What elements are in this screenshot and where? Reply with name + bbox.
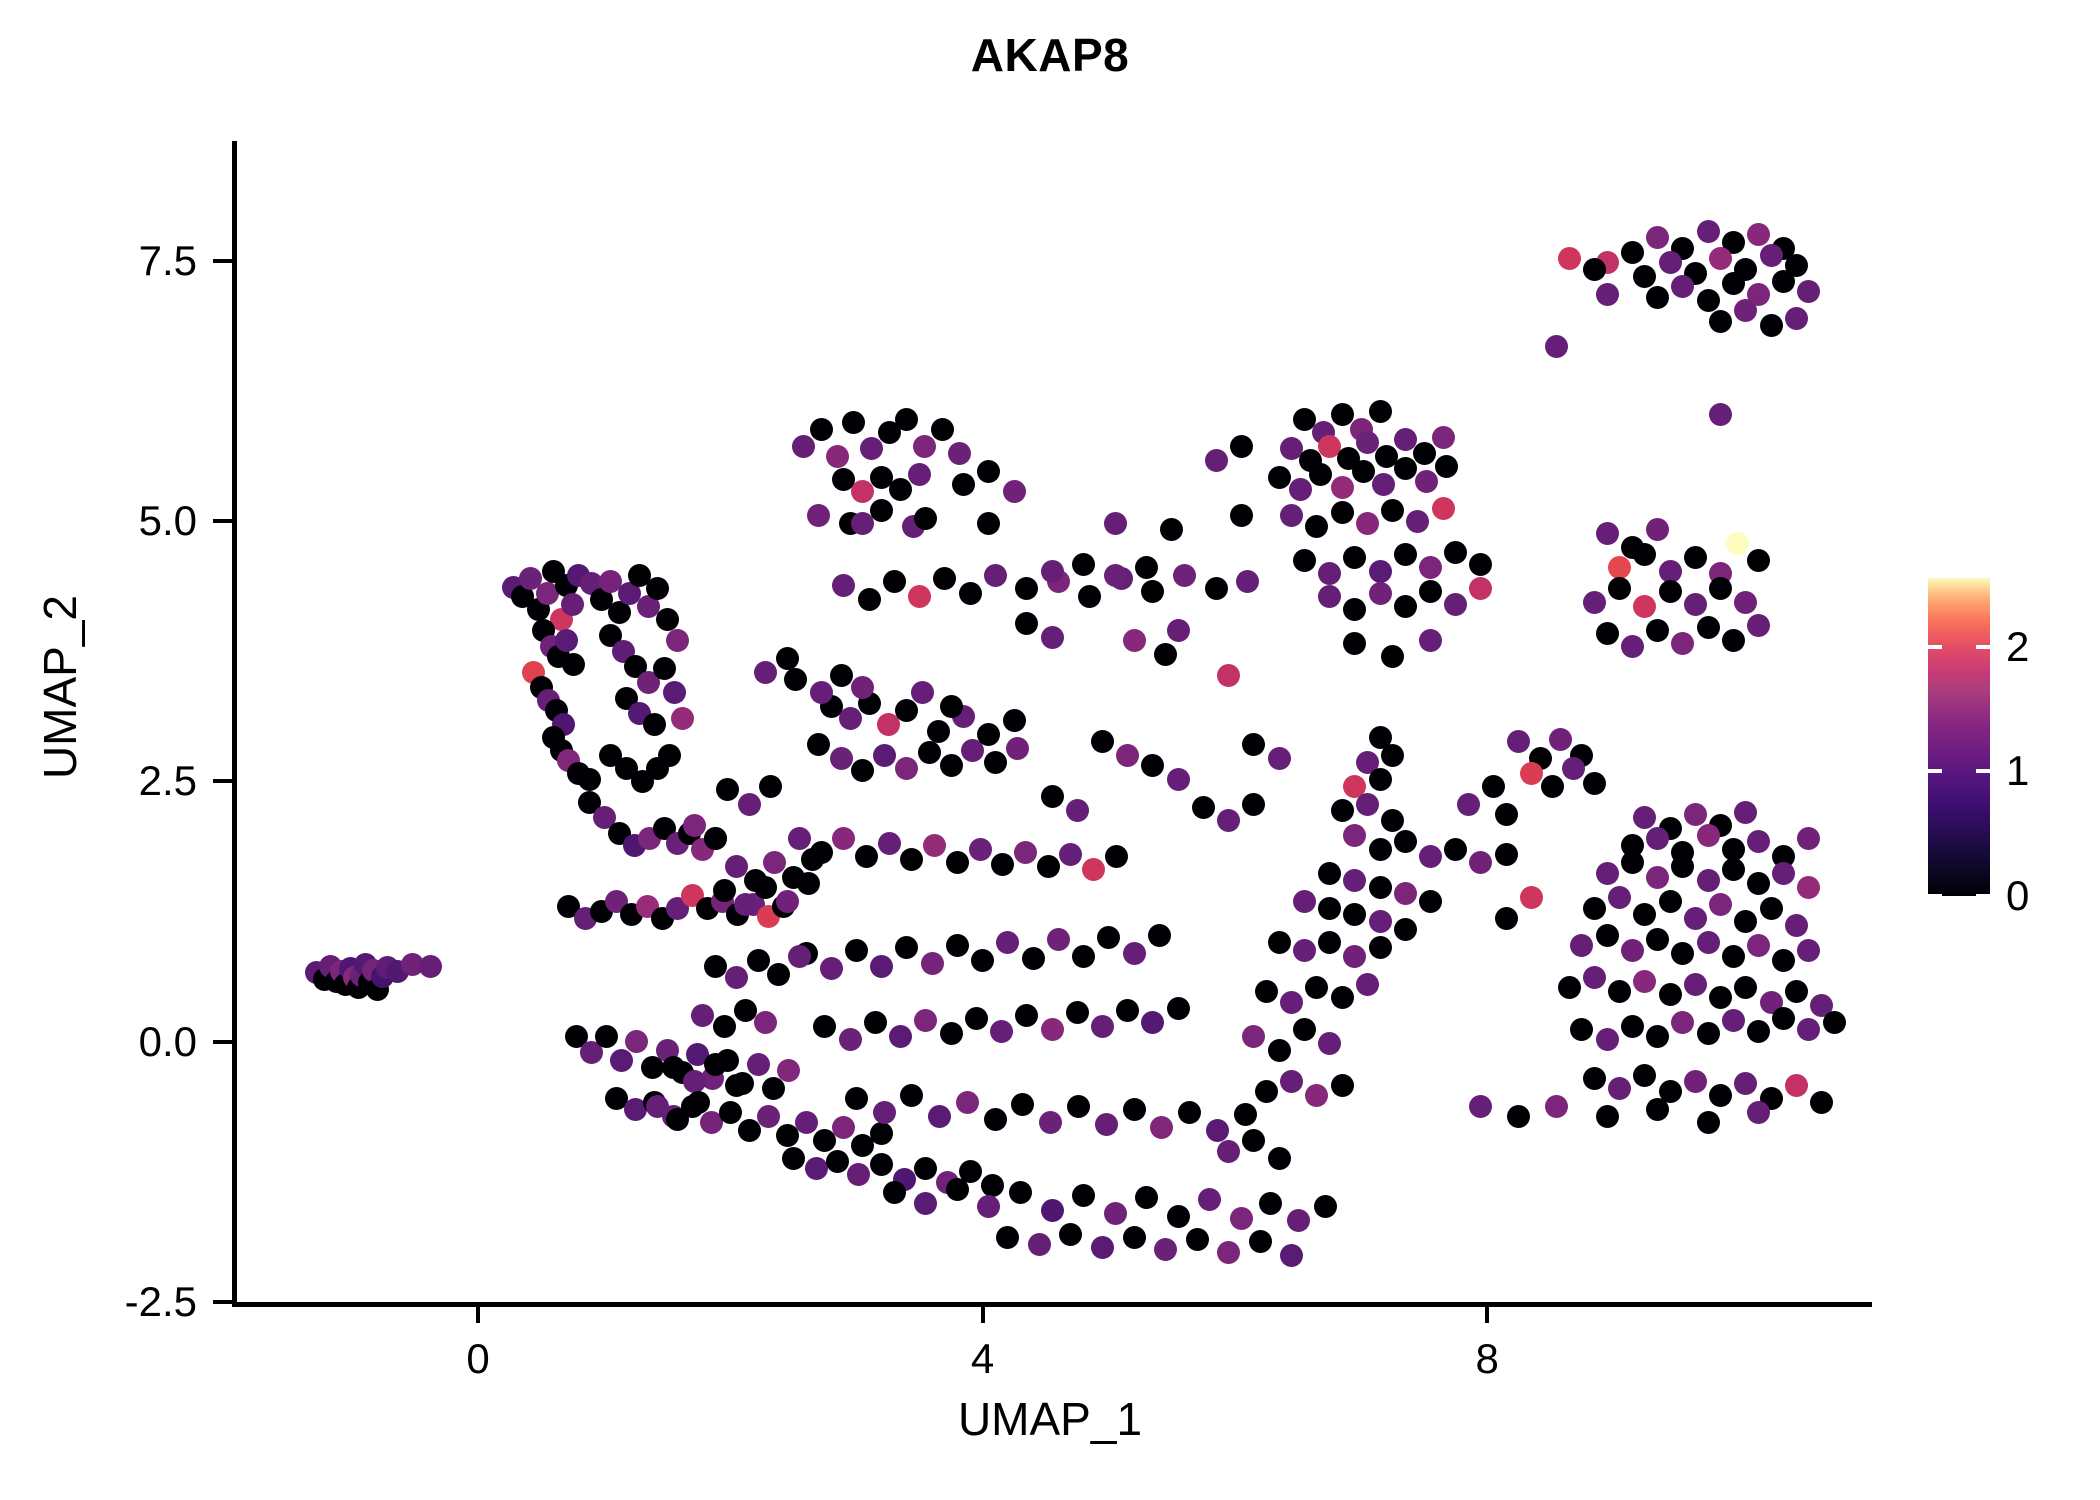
scatter-point [1318,585,1341,608]
scatter-point [1772,949,1795,972]
scatter-point [762,1077,785,1100]
scatter-point [914,1192,937,1215]
scatter-point [1217,1241,1240,1264]
scatter-point [1747,872,1770,895]
scatter-point [1369,582,1392,605]
scatter-point [555,629,578,652]
scatter-point [776,890,799,913]
scatter-point [1003,480,1026,503]
scatter-point [826,1150,849,1173]
scatter-point [1015,612,1038,635]
scatter-point [1646,286,1669,309]
scatter-point [1352,460,1375,483]
scatter-point [1369,768,1392,791]
scatter-point [1596,522,1619,545]
scatter-point [1006,737,1029,760]
scatter-point [1003,709,1026,732]
scatter-point [918,741,941,764]
scatter-point [1104,512,1127,535]
scatter-point [1318,862,1341,885]
scatter-point [940,754,963,777]
scatter-point [921,952,944,975]
scatter-point [754,661,777,684]
y-tick-mark [213,1040,233,1044]
scatter-point [1394,918,1417,941]
scatter-point [1066,1001,1089,1024]
scatter-point [1785,307,1808,330]
scatter-point [1583,966,1606,989]
scatter-point [1562,757,1585,780]
scatter-point [1287,1209,1310,1232]
scatter-point [810,681,833,704]
scatter-point [1558,976,1581,999]
scatter-point [883,1181,906,1204]
scatter-point [792,435,815,458]
scatter-point [788,945,811,968]
scatter-point [1596,862,1619,885]
scatter-point [767,963,790,986]
scatter-point [1037,855,1060,878]
scatter-point [1697,1022,1720,1045]
scatter-point [795,1111,818,1134]
scatter-point [1167,619,1190,642]
scatter-point [946,1178,969,1201]
scatter-point [1747,1101,1770,1124]
scatter-point [1457,793,1480,816]
scatter-point [1726,532,1749,555]
scatter-point [1318,562,1341,585]
scatter-point [1734,591,1757,614]
scatter-point [1697,1111,1720,1134]
scatter-point [1369,876,1392,899]
scatter-point [1356,512,1379,535]
scatter-point [1419,845,1442,868]
scatter-point [1646,866,1669,889]
scatter-point [842,411,865,434]
scatter-point [839,1028,862,1051]
scatter-point [1255,1080,1278,1103]
scatter-point [704,827,727,850]
scatter-point [561,593,584,616]
scatter-point [1280,1070,1303,1093]
scatter-point [940,695,963,718]
scatter-point [1343,945,1366,968]
scatter-point [1747,549,1770,572]
scatter-point [1797,1018,1820,1041]
scatter-point [1432,426,1455,449]
scatter-point [1394,830,1417,853]
scatter-point [1709,893,1732,916]
scatter-point [1014,841,1037,864]
scatter-point [1646,1098,1669,1121]
scatter-point [1173,564,1196,587]
scatter-point [1596,1028,1619,1051]
scatter-point [927,720,950,743]
scatter-point [1583,897,1606,920]
scatter-point [725,1074,748,1097]
scatter-point [713,879,736,902]
scatter-point [1596,283,1619,306]
scatter-point [1280,991,1303,1014]
scatter-point [1154,643,1177,666]
scatter-point [1293,890,1316,913]
scatter-point [1041,1199,1064,1222]
scatter-point [1722,838,1745,861]
scatter-point [813,1015,836,1038]
scatter-point [855,845,878,868]
scatter-point [1293,939,1316,962]
scatter-point [1697,220,1720,243]
scatter-point [1192,796,1215,819]
scatter-point [1722,272,1745,295]
scatter-point [776,647,799,670]
scatter-point [931,418,954,441]
colorbar-legend: 210 [1928,578,1990,896]
scatter-point [757,1105,780,1128]
scatter-point [860,437,883,460]
colorbar-tick-mark [1976,645,1990,649]
scatter-point [1217,1140,1240,1163]
scatter-point [1684,593,1707,616]
scatter-point [1381,645,1404,668]
scatter-point [658,744,681,767]
scatter-point [666,1108,689,1131]
scatter-point [1549,728,1572,751]
x-axis-title: UMAP_1 [0,1392,2100,1446]
scatter-point [1583,591,1606,614]
scatter-point [646,1095,669,1118]
scatter-point [933,567,956,590]
scatter-point [1242,793,1265,816]
scatter-point [873,1101,896,1124]
scatter-point [595,1025,618,1048]
scatter-point [940,1022,963,1045]
scatter-point [1255,980,1278,1003]
page-title: AKAP8 [0,28,2100,82]
scatter-point [889,1025,912,1048]
scatter-point [1356,973,1379,996]
scatter-point [858,588,881,611]
scatter-point [1621,939,1644,962]
scatter-point [1722,629,1745,652]
scatter-point [1206,1119,1229,1142]
scatter-point [1722,1009,1745,1032]
scatter-point [1268,1147,1291,1170]
scatter-point [1646,619,1669,642]
scatter-point [1785,1074,1808,1097]
scatter-point [1123,1098,1146,1121]
scatter-point [946,851,969,874]
scatter-point [719,1101,742,1124]
scatter-point [1022,947,1045,970]
scatter-point [1684,803,1707,826]
scatter-point [1150,1116,1173,1139]
scatter-point [1331,501,1354,524]
scatter-point [1697,289,1720,312]
scatter-point [1104,1202,1127,1225]
scatter-point [1268,747,1291,770]
scatter-point [1041,785,1064,808]
colorbar-tick-mark [1928,645,1942,649]
scatter-point [1621,1015,1644,1038]
colorbar-tick-mark [1976,769,1990,773]
scatter-point [801,848,824,871]
scatter-point [810,418,833,441]
scatter-point [1583,772,1606,795]
scatter-point [734,893,757,916]
scatter-point [826,445,849,468]
scatter-point [1167,768,1190,791]
scatter-point [1343,869,1366,892]
scatter-point [1167,997,1190,1020]
scatter-point [895,408,918,431]
scatter-point [913,435,936,458]
scatter-point [984,1108,1007,1131]
scatter-point [845,939,868,962]
x-tick-mark [1485,1303,1489,1323]
scatter-point [1671,942,1694,965]
scatter-point [1697,616,1720,639]
scatter-point [1545,1095,1568,1118]
scatter-point [1356,793,1379,816]
scatter-point [1369,936,1392,959]
scatter-point [578,768,601,791]
scatter-point [908,585,931,608]
scatter-point [1028,1233,1051,1256]
x-tick-label: 8 [1407,1338,1567,1380]
y-tick-mark [213,779,233,783]
scatter-point [1091,1015,1114,1038]
scatter-point [713,1015,736,1038]
y-axis-line [232,141,237,1307]
scatter-point [1047,928,1070,951]
scatter-point [805,1157,828,1180]
scatter-point [908,463,931,486]
y-axis-title: UMAP_2 [33,407,87,967]
scatter-point [1280,1244,1303,1267]
scatter-point [1495,907,1518,930]
scatter-point [969,838,992,861]
scatter-point [1331,986,1354,1009]
scatter-point [1167,1205,1190,1228]
scatter-point [1432,497,1455,520]
scatter-point [1105,845,1128,868]
scatter-point [1646,1025,1669,1048]
scatter-point [1785,914,1808,937]
scatter-point [1230,1207,1253,1230]
scatter-point [1268,1039,1291,1062]
scatter-point [1633,1064,1656,1087]
scatter-point [419,955,442,978]
scatter-point [1234,1103,1257,1126]
scatter-point [1722,858,1745,881]
scatter-point [1394,543,1417,566]
scatter-point [1697,869,1720,892]
scatter-point [1621,851,1644,874]
y-tick-mark [213,259,233,263]
scatter-point [984,751,1007,774]
x-tick-mark [476,1303,480,1323]
scatter-point [687,1091,710,1114]
scatter-point [1684,1070,1707,1093]
scatter-point [1072,945,1095,968]
scatter-point [1116,999,1139,1022]
scatter-point [1659,890,1682,913]
scatter-point [1041,1018,1064,1041]
colorbar-tick-mark [1928,894,1942,898]
scatter-point [1406,510,1429,533]
scatter-point [1646,518,1669,541]
scatter-point [1444,838,1467,861]
scatter-point [1596,924,1619,947]
scatter-point [1583,1067,1606,1090]
scatter-point [977,512,1000,535]
scatter-point [1709,310,1732,333]
scatter-point [1797,939,1820,962]
scatter-point [1413,442,1436,465]
scatter-point [1621,635,1644,658]
umap-scatter-plot: AKAP8 -2.50.02.55.07.5 048 UMAP_1 UMAP_2… [0,0,2100,1500]
scatter-point [870,1122,893,1145]
scatter-point [1268,931,1291,954]
scatter-point [911,681,934,704]
colorbar-tick-label: 1 [2006,750,2076,792]
scatter-point [747,1053,770,1076]
scatter-point [981,1174,1004,1197]
scatter-point [1293,1018,1316,1041]
scatter-point [1558,247,1581,270]
scatter-point [1785,980,1808,1003]
scatter-point [704,1053,727,1076]
scatter-point [1205,577,1228,600]
scatter-point [1318,897,1341,920]
scatter-point [1520,762,1543,785]
scatter-point [1583,258,1606,281]
scatter-point [1259,1192,1282,1215]
scatter-point [1236,570,1259,593]
scatter-point [777,1059,800,1082]
scatter-point [1230,504,1253,527]
scatter-point [666,629,689,652]
scatter-point [1772,862,1795,885]
scatter-point [959,582,982,605]
colorbar-tick-label: 2 [2006,626,2076,668]
scatter-point [977,460,1000,483]
scatter-point [883,570,906,593]
scatter-point [977,1195,1000,1218]
scatter-point [956,1091,979,1114]
scatter-point [1810,1091,1833,1114]
scatter-point [1659,251,1682,274]
scatter-point [1041,560,1064,583]
scatter-point [1747,1020,1770,1043]
y-tick-label: 7.5 [37,240,197,282]
scatter-point [1823,1011,1846,1034]
x-tick-label: 0 [398,1338,558,1380]
scatter-point [1419,890,1442,913]
scatter-point [797,872,820,895]
y-tick-mark [213,1300,233,1304]
scatter-point [873,744,896,767]
scatter-point [1011,1093,1034,1116]
scatter-point [1482,775,1505,798]
scatter-point [832,1116,855,1139]
scatter-point [1217,664,1240,687]
scatter-point [1394,882,1417,905]
scatter-point [851,512,874,535]
scatter-point [1293,549,1316,572]
scatter-point [1331,799,1354,822]
scatter-point [1104,564,1127,587]
scatter-point [683,814,706,837]
scatter-point [1009,1181,1032,1204]
scatter-point [747,949,770,972]
scatter-point [1123,629,1146,652]
scatter-point [1067,1095,1090,1118]
x-tick-label: 4 [903,1338,1063,1380]
scatter-point [1747,614,1770,637]
scatter-point [1369,910,1392,933]
scatter-point [1444,593,1467,616]
scatter-point [738,793,761,816]
scatter-point [878,832,901,855]
scatter-point [782,1147,805,1170]
scatter-point [1268,466,1291,489]
colorbar-gradient [1928,578,1990,896]
scatter-point [1078,585,1101,608]
scatter-point [1331,403,1354,426]
scatter-point [1747,223,1770,246]
scatter-point [1570,1018,1593,1041]
scatter-point [1116,744,1139,767]
scatter-point [1369,838,1392,861]
scatter-point [1394,595,1417,618]
y-tick-label: 0.0 [37,1021,197,1063]
y-tick-label: -2.5 [37,1281,197,1323]
scatter-point [830,747,853,770]
scatter-point [1545,335,1568,358]
scatter-point [1596,622,1619,645]
scatter-point [971,949,994,972]
scatter-point [1495,843,1518,866]
scatter-point [1369,560,1392,583]
scatter-point [1659,580,1682,603]
colorbar-tick-mark [1976,894,1990,898]
scatter-point [1309,463,1332,486]
scatter-point [1722,945,1745,968]
scatter-point [1331,1074,1354,1097]
scatter-point [1659,983,1682,1006]
scatter-point [1381,744,1404,767]
scatter-point [965,1007,988,1030]
scatter-point [643,713,666,736]
scatter-point [1596,1105,1619,1128]
scatter-point [1659,560,1682,583]
scatter-point [839,707,862,730]
scatter-point [1178,1101,1201,1124]
colorbar-tick-mark [1928,769,1942,773]
scatter-point [1760,244,1783,267]
scatter-point [1123,942,1146,965]
scatter-point [1186,1228,1209,1251]
scatter-point [1495,803,1518,826]
scatter-point [990,1020,1013,1043]
scatter-point [1684,546,1707,569]
scatter-point [1066,799,1089,822]
x-tick-mark [981,1303,985,1323]
scatter-point [1205,449,1228,472]
scatter-point [1041,626,1064,649]
